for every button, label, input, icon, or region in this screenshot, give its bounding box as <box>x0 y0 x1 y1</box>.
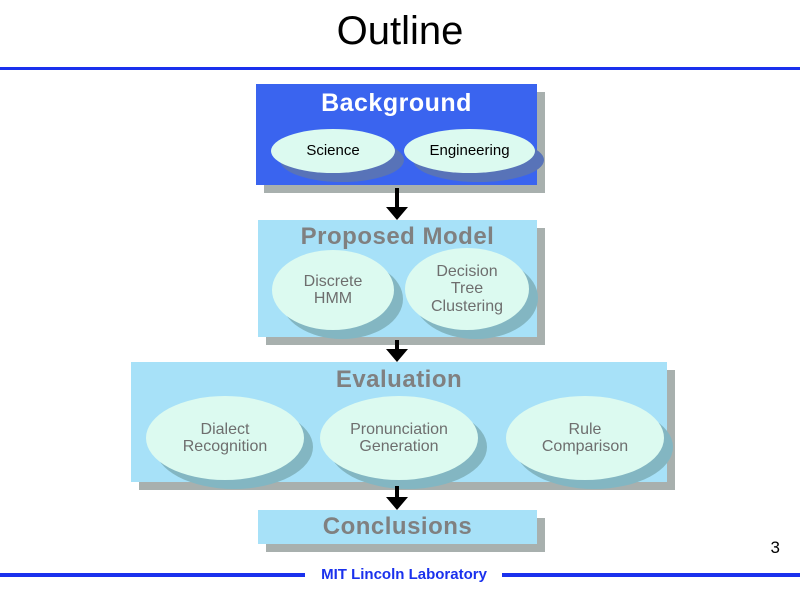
slide-footer: MIT Lincoln Laboratory <box>0 564 800 590</box>
node-rule-comparison-body: Rule Comparison <box>506 396 664 480</box>
node-discrete-hmm: Discrete HMM <box>272 250 394 330</box>
stage-conclusions-title: Conclusions <box>258 513 537 541</box>
down-arrow-icon-background-to-proposed <box>386 188 408 220</box>
node-decision-tree-clustering: Decision Tree Clustering <box>405 248 529 330</box>
node-discrete-hmm-body: Discrete HMM <box>272 250 394 330</box>
arrow-shaft <box>395 486 399 497</box>
page-title: Outline <box>0 6 800 56</box>
stage-proposed-model-title: Proposed Model <box>258 223 537 251</box>
stage-conclusions: Conclusions <box>258 510 537 544</box>
down-arrow-icon-proposed-to-evaluation <box>386 340 408 362</box>
down-arrow-icon-evaluation-to-conclusions <box>386 486 408 510</box>
node-rule-comparison-label: Rule Comparison <box>506 421 664 456</box>
title-divider <box>0 67 800 70</box>
page-number: 3 <box>771 538 780 558</box>
footer-organization: MIT Lincoln Laboratory <box>312 564 496 586</box>
node-rule-comparison: Rule Comparison <box>506 396 664 480</box>
node-engineering: Engineering <box>404 129 535 173</box>
node-pronunciation-generation: Pronunciation Generation <box>320 396 478 480</box>
stage-evaluation-title: Evaluation <box>131 366 667 394</box>
node-engineering-label: Engineering <box>404 143 535 159</box>
arrow-head <box>386 349 408 362</box>
arrow-head <box>386 207 408 220</box>
node-pronunciation-generation-label: Pronunciation Generation <box>320 421 478 456</box>
node-decision-tree-clustering-label: Decision Tree Clustering <box>405 263 529 315</box>
node-pronunciation-generation-body: Pronunciation Generation <box>320 396 478 480</box>
stage-background-title: Background <box>256 89 537 118</box>
node-science: Science <box>271 129 395 173</box>
footer-line-right <box>502 573 800 577</box>
arrow-shaft <box>395 188 399 207</box>
footer-line-left <box>0 573 305 577</box>
node-science-label: Science <box>271 143 395 159</box>
node-engineering-body: Engineering <box>404 129 535 173</box>
node-dialect-recognition-label: Dialect Recognition <box>146 421 304 456</box>
node-discrete-hmm-label: Discrete HMM <box>272 273 394 308</box>
arrow-shaft <box>395 340 399 349</box>
arrow-head <box>386 497 408 510</box>
node-dialect-recognition-body: Dialect Recognition <box>146 396 304 480</box>
node-science-body: Science <box>271 129 395 173</box>
node-decision-tree-clustering-body: Decision Tree Clustering <box>405 248 529 330</box>
node-dialect-recognition: Dialect Recognition <box>146 396 304 480</box>
